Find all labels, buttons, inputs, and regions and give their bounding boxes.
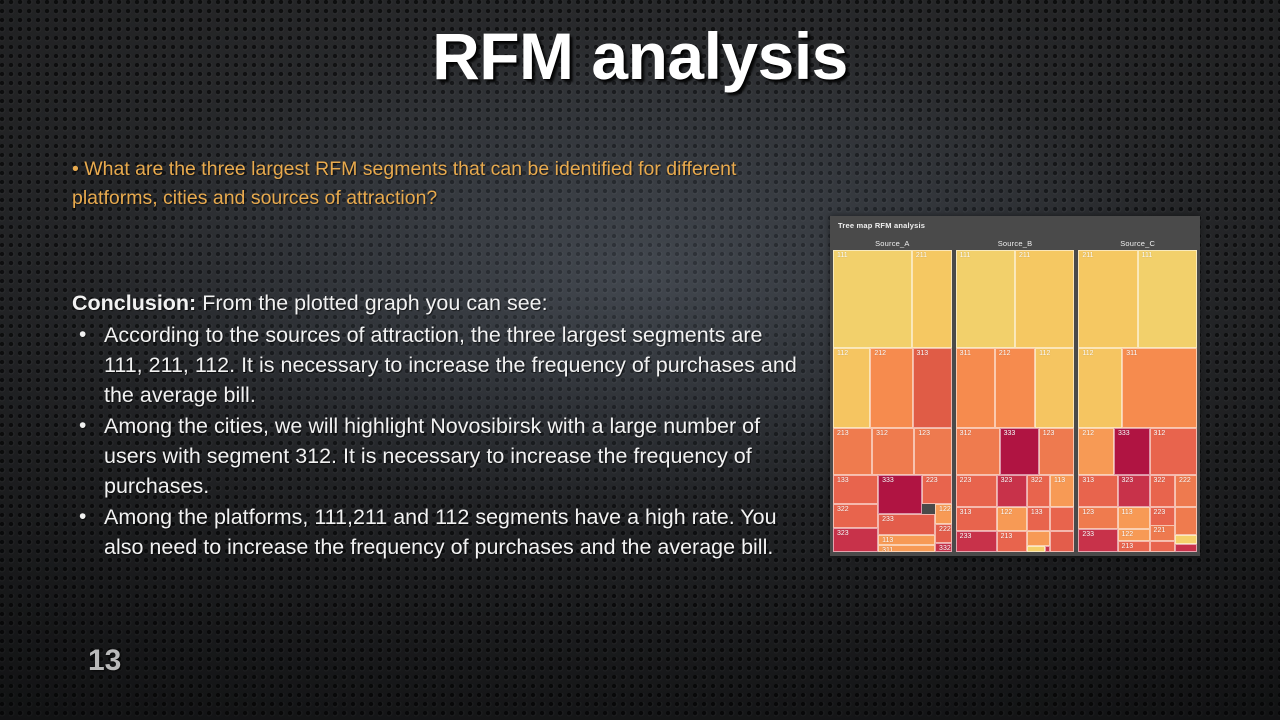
treemap-tile[interactable]: 323: [1118, 475, 1150, 507]
list-item-text: Among the cities, we will highlight Novo…: [104, 414, 760, 498]
treemap-tile-label: 322: [1031, 477, 1043, 484]
treemap-tile[interactable]: 313: [1078, 475, 1117, 507]
treemap-tile[interactable]: 223: [922, 475, 952, 504]
treemap-tile-label: 112: [837, 350, 848, 357]
treemap-tile-label: 122: [1001, 509, 1013, 516]
page-title: RFM analysis: [0, 18, 1280, 94]
bullet-icon: •: [79, 411, 86, 441]
treemap-tile-label: 311: [882, 547, 893, 552]
treemap-tile-label: 223: [926, 477, 938, 484]
treemap-tile-label: 122: [1122, 531, 1134, 538]
treemap-tile[interactable]: 322: [1027, 475, 1050, 507]
facet-body: 2111111123112123333123133233222221231132…: [1078, 250, 1197, 552]
treemap-tile[interactable]: 112: [833, 348, 870, 428]
treemap-tile[interactable]: 333: [1000, 428, 1039, 475]
treemap-tile-label: 323: [1122, 477, 1134, 484]
treemap-tile-label: 112: [1039, 350, 1050, 357]
treemap-tile-label: 332: [939, 545, 951, 552]
treemap-tile-label: 111: [960, 252, 971, 259]
treemap-tile[interactable]: 233: [878, 514, 935, 535]
list-item: • Among the cities, we will highlight No…: [72, 411, 802, 501]
list-item: • Among the platforms, 111,211 and 112 s…: [72, 502, 802, 562]
facet-body: 1112113112121123123331232233233221133131…: [956, 250, 1075, 552]
treemap-tile-label: 213: [1122, 543, 1134, 550]
treemap-tile-label: 313: [960, 509, 972, 516]
treemap-tile-label: 122: [939, 506, 951, 513]
bullet-icon: •: [79, 502, 86, 532]
treemap-tile[interactable]: 333: [878, 475, 922, 514]
treemap-tile[interactable]: 313: [956, 507, 997, 531]
treemap-tile-label: 323: [837, 530, 849, 537]
treemap-tile-label: 113: [1054, 477, 1065, 484]
treemap-tile[interactable]: 112: [1035, 348, 1074, 428]
treemap-tile[interactable]: [1050, 507, 1074, 531]
conclusion-lead: Conclusion: From the plotted graph you c…: [72, 288, 802, 318]
treemap-tile[interactable]: 212: [1078, 428, 1114, 475]
treemap-tile[interactable]: [1175, 535, 1197, 544]
treemap-tile[interactable]: 122: [997, 507, 1027, 531]
treemap-tile[interactable]: [1175, 544, 1197, 552]
conclusion-block: Conclusion: From the plotted graph you c…: [72, 288, 802, 563]
treemap-tile[interactable]: 112: [1078, 348, 1122, 428]
treemap-tile-label: 322: [1154, 477, 1166, 484]
treemap-tile[interactable]: [1175, 507, 1197, 536]
treemap-tile[interactable]: 122: [935, 504, 952, 525]
treemap-tile[interactable]: 213: [1118, 541, 1150, 552]
treemap-tile[interactable]: 312: [956, 428, 1000, 475]
treemap-tile-label: 113: [882, 537, 893, 544]
treemap-tile-label: 312: [960, 430, 972, 437]
treemap-tile[interactable]: 123: [1039, 428, 1075, 475]
treemap-tile[interactable]: 122: [1118, 529, 1150, 541]
facet-body: 1112111122123132133121231333332233222331…: [833, 250, 952, 552]
treemap-tile[interactable]: 311: [878, 545, 935, 552]
treemap-tile[interactable]: [1027, 531, 1050, 546]
facet-label: Source_A: [833, 237, 952, 250]
treemap-tile[interactable]: 312: [872, 428, 914, 475]
bullet-icon: •: [79, 320, 86, 350]
list-item: • According to the sources of attraction…: [72, 320, 802, 410]
treemap-tile[interactable]: 223: [956, 475, 997, 507]
treemap-tile[interactable]: 211: [912, 250, 952, 348]
treemap-tile[interactable]: 113: [1118, 507, 1150, 530]
treemap-facet-source-b: Source_B 1112113112121123123331232233233…: [956, 237, 1075, 552]
treemap-tile[interactable]: 323: [833, 528, 878, 552]
treemap-tile[interactable]: 221: [1150, 525, 1176, 542]
treemap-tile-label: 111: [1142, 252, 1153, 259]
facet-label: Source_B: [956, 237, 1075, 250]
treemap-tile[interactable]: 323: [997, 475, 1027, 507]
page-number: 13: [88, 644, 121, 678]
treemap-tile[interactable]: 222: [1175, 475, 1197, 507]
treemap-tile[interactable]: 113: [1050, 475, 1074, 507]
treemap-facets: Source_A 1112111122123132133121231333332…: [833, 237, 1197, 552]
treemap-tile[interactable]: 233: [956, 531, 997, 552]
treemap-tile[interactable]: 111: [1138, 250, 1197, 348]
treemap-tile-label: 312: [1154, 430, 1166, 437]
treemap-tile-label: 333: [1118, 430, 1130, 437]
treemap-tile-label: 312: [876, 430, 888, 437]
treemap-tile[interactable]: 213: [833, 428, 872, 475]
treemap-tile[interactable]: 123: [914, 428, 951, 475]
list-item-text: According to the sources of attraction, …: [104, 323, 797, 407]
treemap-tile-label: 233: [1082, 531, 1094, 538]
treemap-tile[interactable]: 111: [956, 250, 1015, 348]
treemap-tile-label: 333: [1004, 430, 1016, 437]
treemap-tile[interactable]: 113: [878, 535, 935, 545]
treemap-tile-label: 111: [837, 252, 848, 259]
treemap-tile[interactable]: 312: [1150, 428, 1197, 475]
treemap-tile-label: 323: [1001, 477, 1013, 484]
treemap-tile-label: 123: [918, 430, 930, 437]
treemap-tile-label: 313: [917, 350, 929, 357]
chart-title: Tree map RFM analysis: [838, 221, 925, 230]
question-text: What are the three largest RFM segments …: [72, 158, 736, 209]
list-item-text: Among the platforms, 111,211 and 112 seg…: [104, 505, 777, 559]
treemap-tile-label: 223: [1154, 509, 1166, 516]
treemap-tile-label: 211: [1082, 252, 1093, 259]
conclusion-list: • According to the sources of attraction…: [72, 320, 802, 562]
treemap-tile-label: 311: [1126, 350, 1137, 357]
treemap-facet-source-c: Source_C 2111111123112123333123133233222…: [1078, 237, 1197, 552]
question-bullet-icon: •: [72, 158, 79, 180]
treemap-tile-label: 313: [1082, 477, 1094, 484]
treemap-tile[interactable]: 211: [1078, 250, 1137, 348]
treemap-tile-label: 311: [960, 350, 971, 357]
treemap-tile-label: 213: [1001, 533, 1013, 540]
treemap-tile[interactable]: 123: [1078, 507, 1117, 530]
facet-label: Source_C: [1078, 237, 1197, 250]
treemap-tile-label: 133: [1031, 509, 1043, 516]
treemap-tile-label: 233: [882, 516, 894, 523]
question-paragraph: • What are the three largest RFM segment…: [72, 155, 752, 213]
treemap-tile[interactable]: [1150, 541, 1176, 552]
treemap-tile[interactable]: 111: [833, 250, 912, 348]
treemap-tile-label: 213: [837, 430, 849, 437]
treemap-tile[interactable]: 222: [935, 524, 952, 543]
treemap-tile-label: 222: [939, 526, 951, 533]
treemap-tile[interactable]: 333: [1114, 428, 1150, 475]
treemap-tile-label: 211: [916, 252, 927, 259]
treemap-tile[interactable]: 133: [833, 475, 878, 504]
treemap-tile-label: 212: [1082, 430, 1094, 437]
treemap-tile[interactable]: 311: [1122, 348, 1197, 428]
treemap-tile-label: 223: [960, 477, 972, 484]
treemap-tile-label: 212: [999, 350, 1011, 357]
treemap-tile[interactable]: [1027, 546, 1045, 552]
treemap-tile-label: 222: [1179, 477, 1191, 484]
treemap-tile-label: 211: [1019, 252, 1030, 259]
treemap-tile-label: 333: [882, 477, 894, 484]
slide-canvas: RFM analysis • What are the three larges…: [0, 0, 1280, 720]
treemap-tile-label: 123: [1082, 509, 1094, 516]
treemap-tile[interactable]: 311: [956, 348, 995, 428]
treemap-tile[interactable]: 211: [1015, 250, 1074, 348]
treemap-tile[interactable]: 212: [995, 348, 1035, 428]
conclusion-label: Conclusion:: [72, 291, 196, 315]
treemap-tile[interactable]: [1050, 531, 1074, 552]
treemap-tile[interactable]: 212: [870, 348, 912, 428]
conclusion-lead-text: From the plotted graph you can see:: [196, 291, 547, 315]
treemap-tile[interactable]: 313: [913, 348, 952, 428]
treemap-tile-label: 123: [1043, 430, 1055, 437]
treemap-tile-label: 212: [874, 350, 886, 357]
treemap-tile-label: 233: [960, 533, 972, 540]
treemap-tile[interactable]: 332: [935, 543, 952, 552]
treemap-tile-label: 221: [1154, 527, 1166, 534]
treemap-facet-source-a: Source_A 1112111122123132133121231333332…: [833, 237, 952, 552]
treemap-tile-label: 113: [1122, 509, 1133, 516]
treemap-tile-label: 112: [1082, 350, 1093, 357]
treemap-tile[interactable]: 233: [1078, 529, 1117, 552]
treemap-tile[interactable]: 213: [997, 531, 1027, 552]
treemap-tile-label: 133: [837, 477, 849, 484]
treemap-tile-label: 322: [837, 506, 849, 513]
treemap-tile[interactable]: 322: [1150, 475, 1176, 507]
treemap-tile[interactable]: 133: [1027, 507, 1050, 531]
treemap-tile[interactable]: 322: [833, 504, 878, 529]
treemap-chart: Tree map RFM analysis Source_A 111211112…: [830, 216, 1200, 556]
